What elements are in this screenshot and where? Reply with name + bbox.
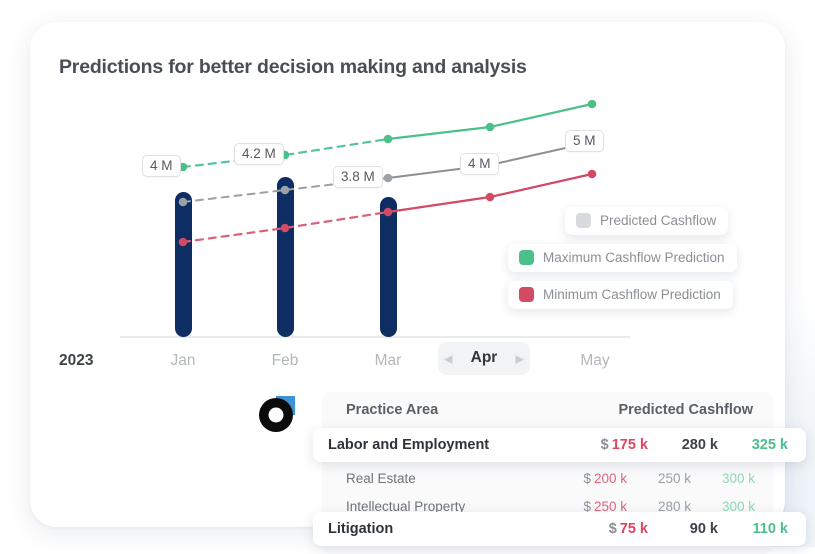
legend-item-minimum-cashflow[interactable]: Minimum Cashflow Prediction <box>508 281 733 309</box>
bar-mar <box>380 197 397 337</box>
legend-item-maximum-cashflow[interactable]: Maximum Cashflow Prediction <box>508 244 737 272</box>
table-row-highlighted[interactable]: Litigation $75 k 90 k 110 k <box>313 512 806 546</box>
cell-min-value: $175 k <box>578 437 648 453</box>
bar-group <box>175 177 397 337</box>
chevron-right-icon: ▶ <box>516 352 524 365</box>
legend-label-predicted: Predicted Cashflow <box>600 213 716 228</box>
axis-tick-label-apr: Apr <box>471 349 498 366</box>
cell-practice-area: Real Estate <box>346 471 563 486</box>
screenshot-root: Predictions for better decision making a… <box>0 0 815 547</box>
legend-swatch-icon-maximum <box>519 250 534 265</box>
value-label-max-jan: 4 M <box>142 155 181 177</box>
axis-tick-may[interactable]: May <box>555 352 635 370</box>
legend-label-minimum: Minimum Cashflow Prediction <box>543 287 721 302</box>
value-label-predicted-may: 5 M <box>565 130 604 152</box>
cell-min-value: $75 k <box>578 521 648 537</box>
chevron-left-icon: ◀ <box>444 352 452 365</box>
axis-tick-label-may: May <box>580 352 609 369</box>
cell-practice-area: Labor and Employment <box>328 437 578 453</box>
legend-item-predicted-cashflow[interactable]: Predicted Cashflow <box>565 207 728 235</box>
value-label-max-feb: 4.2 M <box>234 143 284 165</box>
table-header-row: Practice Area Predicted Cashflow <box>322 392 773 428</box>
donut-logo-icon <box>255 394 297 436</box>
axis-tick-apr[interactable]: ◀ Apr ▶ <box>438 342 530 375</box>
column-header-practice-area: Practice Area <box>346 402 618 418</box>
cell-max-value: 110 k <box>718 521 788 537</box>
cell-practice-area: Litigation <box>328 521 578 537</box>
column-header-predicted-cashflow: Predicted Cashflow <box>618 402 755 418</box>
axis-tick-feb[interactable]: Feb <box>245 352 325 370</box>
axis-tick-label-mar: Mar <box>375 352 402 369</box>
page-title: Predictions for better decision making a… <box>59 56 527 79</box>
cell-mid-value: 250 k <box>627 471 691 486</box>
chart-x-axis: 2023 Jan Feb Mar ◀ Apr ▶ May <box>30 340 785 384</box>
prediction-card: Predictions for better decision making a… <box>30 22 785 527</box>
prediction-chart: 4 M 4.2 M 3.8 M 4 M 5 M Predicted Cashfl… <box>30 82 785 372</box>
axis-tick-mar[interactable]: Mar <box>348 352 428 370</box>
cell-max-value: 325 k <box>718 437 788 453</box>
axis-tick-jan[interactable]: Jan <box>143 352 223 370</box>
value-label-predicted-mar: 3.8 M <box>333 166 383 188</box>
table-row-highlighted[interactable]: Labor and Employment $175 k 280 k 325 k <box>313 428 806 462</box>
axis-year-label: 2023 <box>59 352 93 370</box>
value-label-predicted-apr: 4 M <box>460 153 499 175</box>
bar-feb <box>277 177 294 337</box>
table-row[interactable]: Real Estate $200 k 250 k 300 k <box>322 464 773 492</box>
legend-label-maximum: Maximum Cashflow Prediction <box>543 250 725 265</box>
legend-swatch-icon-predicted <box>576 213 591 228</box>
cell-mid-value: 280 k <box>648 437 718 453</box>
legend-swatch-icon-minimum <box>519 287 534 302</box>
cell-mid-value: 90 k <box>648 521 718 537</box>
axis-tick-label-feb: Feb <box>272 352 299 369</box>
cell-min-value: $200 k <box>563 471 627 486</box>
bar-jan <box>175 192 192 337</box>
cell-max-value: 300 k <box>691 471 755 486</box>
axis-tick-label-jan: Jan <box>171 352 196 369</box>
